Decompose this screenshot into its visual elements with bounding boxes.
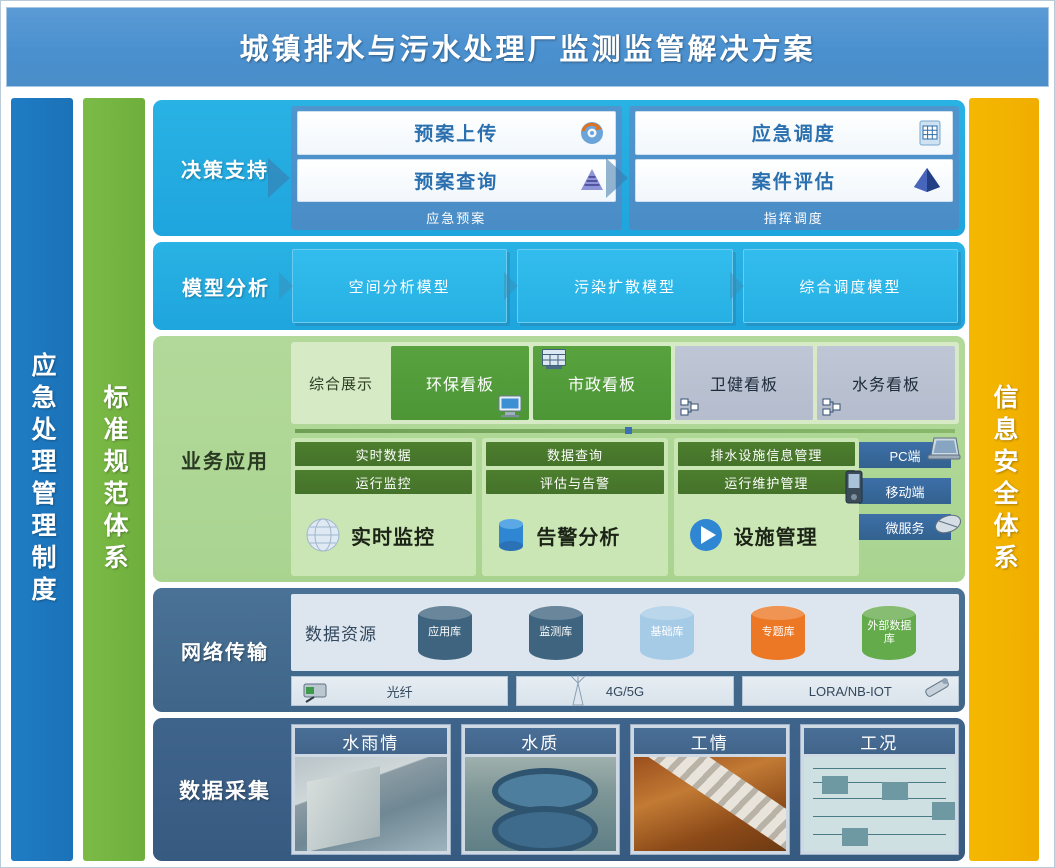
business-feature-realtime-monitor[interactable]: 实时监控 bbox=[295, 498, 472, 572]
model-item-pollution-diffusion[interactable]: 污染扩散模型 bbox=[517, 249, 732, 323]
layer-stack: 决策支持 预案上传 bbox=[153, 100, 965, 861]
decision-item-case-evaluation-label: 案件评估 bbox=[752, 167, 836, 194]
endpoint-mobile[interactable]: 移动端 bbox=[859, 478, 951, 504]
band-label-network-transmission: 网络传输 bbox=[159, 594, 291, 706]
business-feature-alarm-analysis-label: 告警分析 bbox=[536, 521, 620, 550]
page-title: 城镇排水与污水处理厂监测监管解决方案 bbox=[239, 26, 815, 68]
kanban-water-affairs[interactable]: 水务看板 bbox=[817, 346, 955, 420]
data-card-project-status-label: 工情 bbox=[634, 728, 786, 754]
data-card-rainfall[interactable]: 水雨情 bbox=[291, 724, 451, 855]
network-link-cellular-label: 4G/5G bbox=[606, 684, 644, 699]
business-pill-realtime-data[interactable]: 实时数据 bbox=[295, 442, 472, 466]
fiber-icon bbox=[300, 679, 330, 703]
decision-item-emergency-dispatch-label: 应急调度 bbox=[752, 119, 836, 146]
band-data-acquisition: 数据采集 水雨情 水质 工情 工况 bbox=[153, 718, 965, 861]
grid-table-icon bbox=[918, 120, 942, 146]
band-network-transmission: 网络传输 数据资源 应用库 监测库 基础库 专题库 外部数据库 bbox=[153, 588, 965, 712]
business-column-facility: 排水设施信息管理 运行维护管理 设施管理 bbox=[674, 438, 859, 576]
globe-icon bbox=[303, 515, 343, 555]
band-business-application: 业务应用 综合展示 环保看板 bbox=[153, 336, 965, 582]
business-pill-operation-monitor[interactable]: 运行监控 bbox=[295, 470, 472, 494]
business-feature-realtime-monitor-label: 实时监控 bbox=[351, 521, 435, 550]
business-divider bbox=[295, 429, 955, 433]
endpoint-microservice[interactable]: 微服务 bbox=[859, 514, 951, 540]
business-feature-facility-management-label: 设施管理 bbox=[734, 521, 818, 550]
pipeline-photo bbox=[634, 757, 786, 851]
mouse-icon bbox=[933, 512, 963, 536]
page-title-banner: 城镇排水与污水处理厂监测监管解决方案 bbox=[6, 7, 1049, 87]
decision-item-emergency-dispatch[interactable]: 应急调度 bbox=[635, 111, 954, 155]
database-list: 应用库 监测库 基础库 专题库 外部数据库 bbox=[389, 606, 945, 660]
network-link-fiber[interactable]: 光纤 bbox=[291, 676, 508, 706]
pyramid-icon bbox=[579, 168, 605, 192]
antenna-icon bbox=[567, 675, 589, 707]
pillar-emergency-management: 应急处理管理制度 bbox=[11, 98, 73, 861]
data-card-water-quality-label: 水质 bbox=[465, 728, 617, 754]
business-application-body: 综合展示 环保看板 bbox=[291, 342, 959, 576]
scada-diagram-photo bbox=[804, 757, 956, 851]
network-link-cellular[interactable]: 4G/5G bbox=[516, 676, 733, 706]
model-item-spatial[interactable]: 空间分析模型 bbox=[292, 249, 507, 323]
laptop-icon bbox=[927, 436, 961, 462]
data-acquisition-body: 水雨情 水质 工情 工况 bbox=[291, 724, 959, 855]
decision-group-caption-command-dispatch: 指挥调度 bbox=[635, 206, 954, 227]
endpoint-pc[interactable]: PC端 bbox=[859, 442, 951, 468]
business-pill-data-query[interactable]: 数据查询 bbox=[486, 442, 663, 466]
business-feature-alarm-analysis[interactable]: 告警分析 bbox=[486, 498, 663, 572]
database-thematic[interactable]: 专题库 bbox=[751, 606, 805, 660]
business-pill-operation-maintenance[interactable]: 运行维护管理 bbox=[678, 470, 855, 494]
decision-item-plan-upload-label: 预案上传 bbox=[414, 119, 498, 146]
comprehensive-display-title: 综合展示 bbox=[295, 346, 387, 420]
database-foundation[interactable]: 基础库 bbox=[640, 606, 694, 660]
database-monitoring[interactable]: 监测库 bbox=[529, 606, 583, 660]
band-model-analysis: 模型分析 空间分析模型 污染扩散模型 综合调度模型 bbox=[153, 242, 965, 330]
sensor-icon bbox=[920, 673, 954, 703]
pillar-information-security: 信息安全体系 bbox=[969, 98, 1039, 861]
endpoint-microservice-label: 微服务 bbox=[885, 518, 924, 537]
kanban-health-label: 卫健看板 bbox=[710, 371, 778, 395]
node-icon bbox=[680, 398, 700, 416]
node-icon bbox=[822, 398, 842, 416]
decision-group-caption-emergency-plan: 应急预案 bbox=[297, 206, 616, 227]
play-circle-icon bbox=[686, 515, 726, 555]
database-application[interactable]: 应用库 bbox=[418, 606, 472, 660]
window-icon bbox=[541, 348, 567, 370]
solution-architecture-diagram: 城镇排水与污水处理厂监测监管解决方案 应急处理管理制度 标准规范体系 信息安全体… bbox=[0, 0, 1055, 868]
band-decision-support: 决策支持 预案上传 bbox=[153, 100, 965, 236]
data-card-water-quality[interactable]: 水质 bbox=[461, 724, 621, 855]
cylinder-icon bbox=[494, 516, 528, 554]
network-transmission-body: 数据资源 应用库 监测库 基础库 专题库 外部数据库 bbox=[291, 594, 959, 706]
band-label-data-acquisition: 数据采集 bbox=[159, 724, 291, 855]
decision-item-case-evaluation[interactable]: 案件评估 bbox=[635, 159, 954, 203]
kanban-health[interactable]: 卫健看板 bbox=[675, 346, 813, 420]
band-label-decision-support: 决策支持 bbox=[159, 106, 291, 230]
decision-support-body: 预案上传 预案查询 bbox=[291, 106, 959, 230]
decision-group-emergency-plan: 预案上传 预案查询 bbox=[291, 106, 622, 230]
data-resource-title: 数据资源 bbox=[305, 620, 377, 645]
business-pill-evaluation-alarm[interactable]: 评估与告警 bbox=[486, 470, 663, 494]
kanban-environmental[interactable]: 环保看板 bbox=[391, 346, 529, 420]
decision-item-plan-upload[interactable]: 预案上传 bbox=[297, 111, 616, 155]
business-column-query: 数据查询 评估与告警 告警分析 bbox=[482, 438, 667, 576]
business-column-realtime: 实时数据 运行监控 实时监控 bbox=[291, 438, 476, 576]
treatment-plant-photo bbox=[465, 757, 617, 851]
kanban-municipal[interactable]: 市政看板 bbox=[533, 346, 671, 420]
network-link-lora[interactable]: LORA/NB-IOT bbox=[742, 676, 959, 706]
endpoint-pc-label: PC端 bbox=[889, 446, 920, 465]
network-link-lora-label: LORA/NB-IOT bbox=[809, 684, 892, 699]
band-label-model-analysis: 模型分析 bbox=[160, 249, 292, 323]
decision-item-plan-query[interactable]: 预案查询 bbox=[297, 159, 616, 203]
business-pill-drainage-facility-info[interactable]: 排水设施信息管理 bbox=[678, 442, 855, 466]
data-card-operating-condition-label: 工况 bbox=[804, 728, 956, 754]
kanban-municipal-label: 市政看板 bbox=[568, 371, 636, 395]
band-label-business-application: 业务应用 bbox=[159, 342, 291, 576]
kanban-environmental-label: 环保看板 bbox=[426, 371, 494, 395]
business-feature-facility-management[interactable]: 设施管理 bbox=[678, 498, 855, 572]
model-item-integrated-dispatch[interactable]: 综合调度模型 bbox=[743, 249, 958, 323]
monitor-icon bbox=[497, 394, 523, 418]
model-analysis-body: 空间分析模型 污染扩散模型 综合调度模型 bbox=[292, 249, 958, 323]
endpoint-list: PC端 bbox=[859, 442, 951, 540]
kanban-water-affairs-label: 水务看板 bbox=[852, 371, 920, 395]
decision-item-plan-query-label: 预案查询 bbox=[414, 167, 498, 194]
comprehensive-display-row: 综合展示 环保看板 bbox=[291, 342, 959, 424]
data-card-project-status[interactable]: 工情 bbox=[630, 724, 790, 855]
pillar-standard-system: 标准规范体系 bbox=[83, 98, 145, 861]
cycle-icon bbox=[579, 120, 605, 146]
data-card-operating-condition[interactable]: 工况 bbox=[800, 724, 960, 855]
network-link-fiber-label: 光纤 bbox=[387, 682, 413, 701]
pyramid-3d-icon bbox=[912, 167, 942, 193]
endpoint-mobile-label: 移动端 bbox=[885, 482, 924, 501]
network-link-list: 光纤 4G/5G LORA/NB-I bbox=[291, 676, 959, 706]
mobile-icon bbox=[843, 470, 865, 504]
data-resource-row: 数据资源 应用库 监测库 基础库 专题库 外部数据库 bbox=[291, 594, 959, 671]
river-photo bbox=[295, 757, 447, 851]
decision-group-command-dispatch: 应急调度 案件评估 bbox=[629, 106, 960, 230]
data-card-rainfall-label: 水雨情 bbox=[295, 728, 447, 754]
database-external[interactable]: 外部数据库 bbox=[862, 606, 916, 660]
